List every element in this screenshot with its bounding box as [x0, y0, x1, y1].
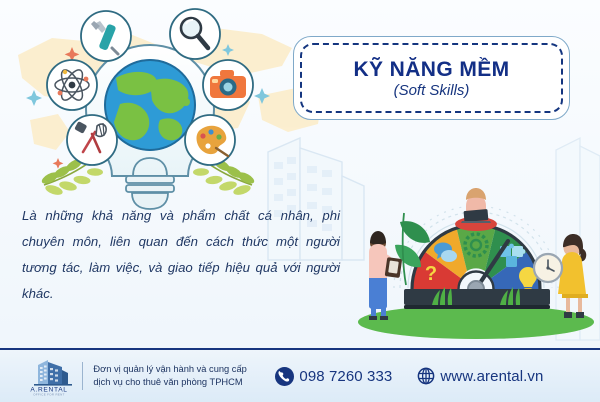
footer-phone[interactable]: 098 7260 333	[275, 367, 392, 386]
page-title: KỸ NĂNG MỀM	[353, 59, 509, 80]
building-icon	[34, 360, 72, 386]
arental-logo[interactable]: A.RENTAL OFFICE FOR RENT	[18, 356, 80, 396]
globe-icon	[417, 367, 435, 385]
title-card: KỸ NĂNG MỀM (Soft Skills)	[293, 36, 570, 120]
question-mark-icon: ?	[425, 263, 437, 285]
atom-icon	[47, 60, 97, 110]
footer-tagline-line1: Đơn vị quản lý vận hành và cung cấp	[93, 363, 253, 377]
title-card-inner-border: KỸ NĂNG MỀM (Soft Skills)	[300, 43, 563, 113]
footer-tagline: Đơn vị quản lý vận hành và cung cấp dịch…	[93, 363, 253, 390]
gauge-base	[404, 289, 550, 305]
tools-icon	[81, 11, 131, 61]
footer-divider	[82, 362, 83, 390]
body-paragraph: Là những khả năng và phẩm chất cá nhân, …	[22, 203, 340, 307]
footer-website-url: www.arental.vn	[440, 368, 543, 385]
phone-icon	[275, 367, 294, 386]
cooking-utensils-icon	[67, 115, 117, 165]
footer-bar: A.RENTAL OFFICE FOR RENT Đơn vị quản lý …	[0, 348, 600, 402]
camera-icon	[203, 60, 253, 110]
palette-icon	[185, 115, 235, 165]
logo-svg: A.RENTAL OFFICE FOR RENT	[18, 356, 80, 396]
footer-tagline-line2: dịch vụ cho thuê văn phòng TPHCM	[93, 376, 253, 390]
magnifier-icon	[170, 9, 220, 59]
footer-website[interactable]: www.arental.vn	[417, 367, 543, 385]
page-subtitle: (Soft Skills)	[394, 83, 470, 98]
body-paragraph-text: Là những khả năng và phẩm chất cá nhân, …	[22, 208, 340, 301]
footer-phone-number: 098 7260 333	[299, 368, 392, 385]
logo-tagline-text: OFFICE FOR RENT	[33, 392, 64, 396]
